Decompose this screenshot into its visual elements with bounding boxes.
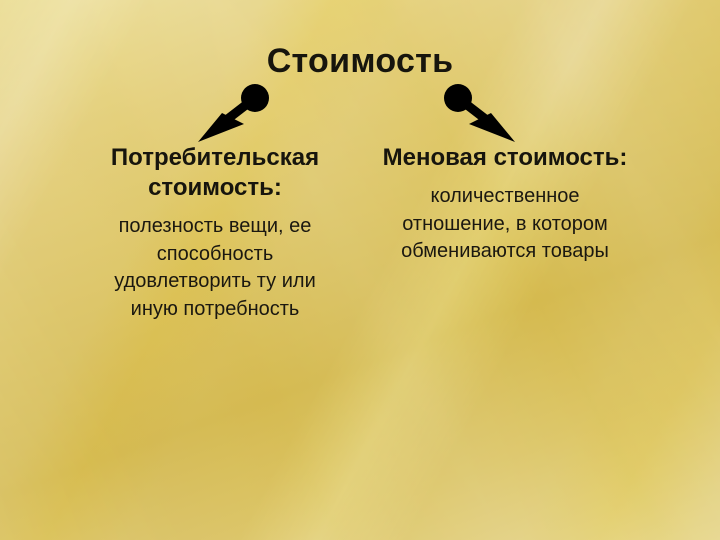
slide-canvas: Стоимость Потребительская стоимость: пол… [0,0,720,540]
column-exchange-value: Меновая стоимость: количественное отноше… [360,143,650,266]
column-heading: Меновая стоимость: [372,143,638,173]
arrow-down-left-icon [198,84,269,142]
column-body: полезность вещи, ее способность удовлетв… [82,213,348,323]
page-title: Стоимость [0,44,720,80]
column-heading: Потребительская стоимость: [82,143,348,203]
columns-container: Потребительская стоимость: полезность ве… [0,143,720,323]
column-body: количественное отношение, в котором обме… [372,183,638,266]
column-consumer-value: Потребительская стоимость: полезность ве… [70,143,360,323]
arrow-down-right-icon [444,84,515,142]
